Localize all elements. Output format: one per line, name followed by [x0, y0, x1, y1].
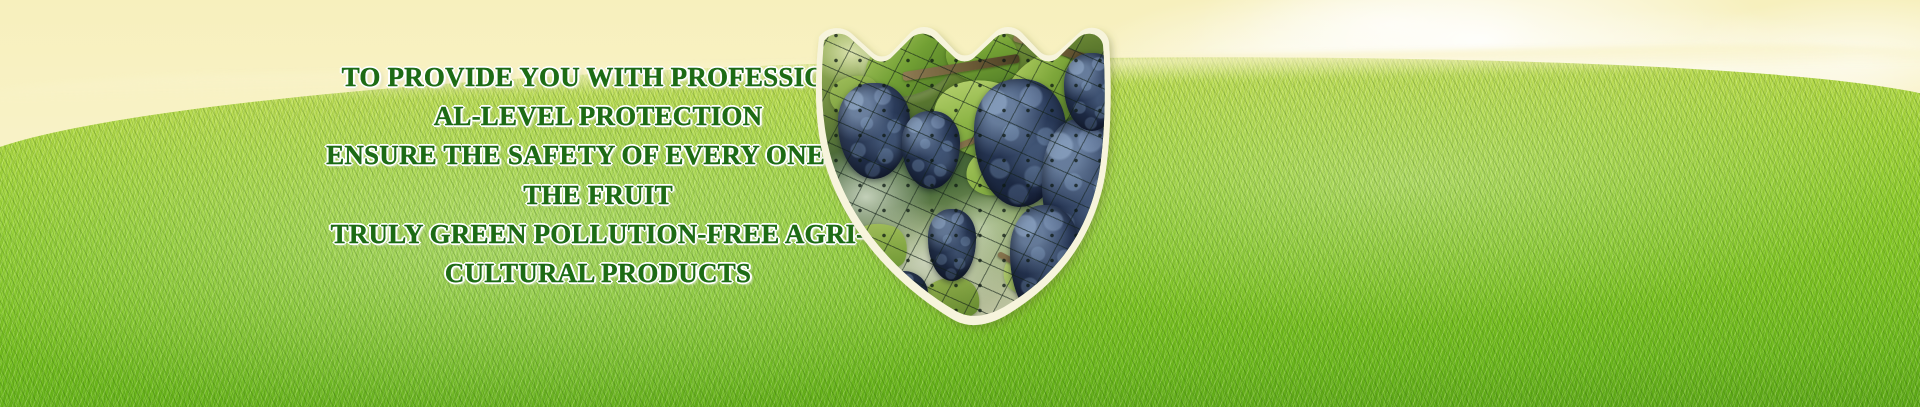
vineyard-photo: [806, 27, 1116, 320]
protective-net-knots: [806, 27, 1116, 320]
hero-banner: TO PROVIDE YOU WITH PROFESSION- AL-LEVEL…: [0, 0, 1920, 407]
grapes-shield-emblem: [806, 27, 1116, 320]
